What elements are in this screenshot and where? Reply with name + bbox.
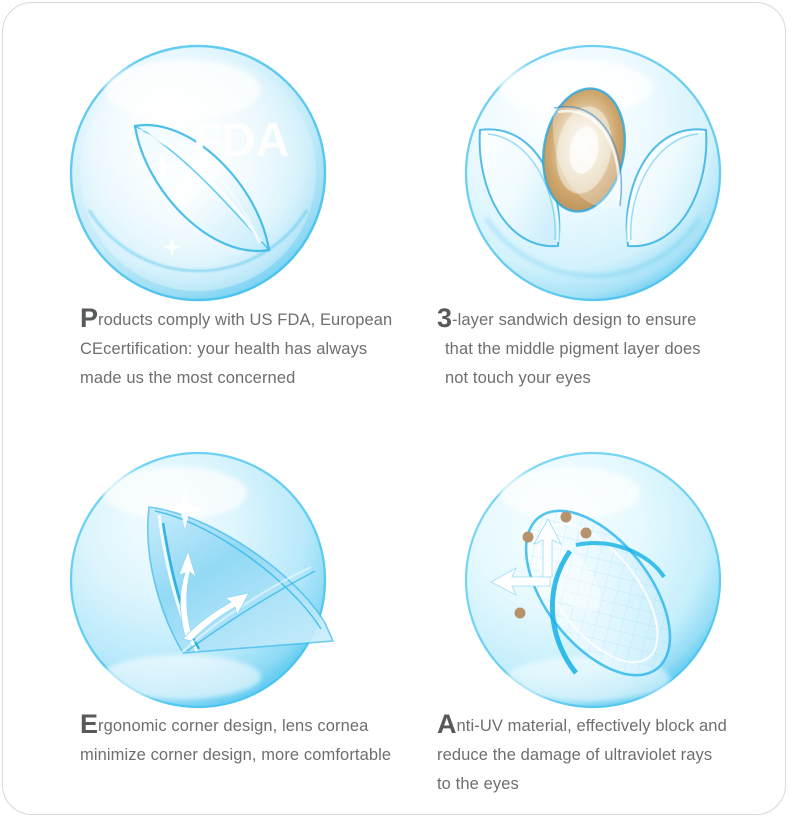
caption-line-3: to the eyes bbox=[437, 770, 757, 799]
fda-badge-text: FDA bbox=[193, 113, 290, 166]
caption-line-1: nti-UV material, effectively block and bbox=[457, 717, 727, 735]
illustration-bubble-with-uv-lens bbox=[458, 445, 728, 715]
feature-panel-fda-certification: FDA Products comply with US FDA, Europea… bbox=[0, 0, 395, 409]
caption-dropcap: A bbox=[437, 709, 457, 739]
caption-line-3: made us the most concerned bbox=[80, 364, 400, 393]
bubble-bottom-gloss bbox=[101, 655, 261, 699]
caption-line-2: minimize corner design, more comfortable bbox=[80, 741, 400, 770]
caption-dropcap: 3 bbox=[437, 303, 452, 333]
caption-line-2: CEcertification: your health has always bbox=[80, 335, 400, 364]
caption-line-1: roducts comply with US FDA, European bbox=[98, 311, 392, 329]
caption-line-1: rgonomic corner design, lens cornea bbox=[98, 717, 368, 735]
feature-panel-anti-uv-material: Anti-UV material, effectively block and … bbox=[395, 409, 790, 818]
caption-dropcap: E bbox=[80, 709, 98, 739]
illustration-bubble-with-fda-lens: FDA bbox=[63, 38, 333, 308]
feature-panel-ergonomic-corner-design: Ergonomic corner design, lens cornea min… bbox=[0, 409, 395, 818]
feature-panel-three-layer-sandwich: 3-layer sandwich design to ensure that t… bbox=[395, 0, 790, 409]
caption-ergonomic-corner-design: Ergonomic corner design, lens cornea min… bbox=[80, 711, 400, 770]
caption-dropcap: P bbox=[80, 303, 98, 333]
bubble-top-gloss bbox=[105, 60, 261, 120]
illustration-bubble-with-lens-arrows bbox=[63, 445, 333, 715]
caption-three-layer-sandwich: 3-layer sandwich design to ensure that t… bbox=[437, 305, 757, 393]
sandwich-bubble-svg bbox=[458, 38, 728, 308]
fda-bubble-svg: FDA bbox=[63, 38, 333, 308]
illustration-bubble-with-three-lenses bbox=[458, 38, 728, 308]
caption-fda-certification: Products comply with US FDA, European CE… bbox=[80, 305, 400, 393]
antiuv-bubble-svg bbox=[458, 445, 728, 715]
caption-anti-uv-material: Anti-UV material, effectively block and … bbox=[437, 711, 757, 799]
caption-line-1: -layer sandwich design to ensure bbox=[452, 311, 696, 329]
ergonomic-bubble-svg bbox=[63, 445, 333, 715]
caption-line-2: reduce the damage of ultraviolet rays bbox=[437, 741, 757, 770]
caption-line-3: not touch your eyes bbox=[437, 364, 757, 393]
caption-line-2: that the middle pigment layer does bbox=[437, 335, 757, 364]
infographic-page: FDA Products comply with US FDA, Europea… bbox=[0, 0, 790, 819]
